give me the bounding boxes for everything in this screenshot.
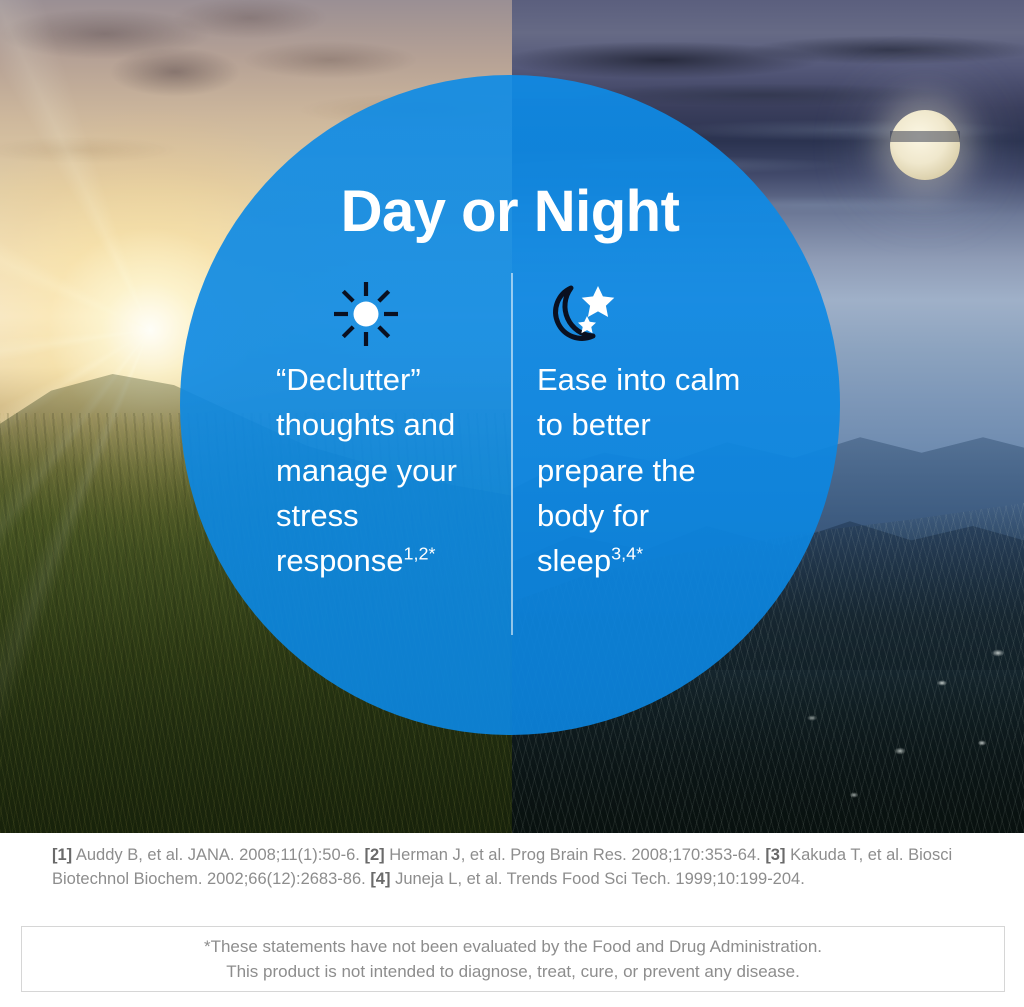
- day-column-superscript: 1,2*: [404, 544, 436, 564]
- moon-stars-icon: [525, 271, 763, 357]
- reference-item: [2] Herman J, et al. Prog Brain Res. 200…: [364, 846, 760, 864]
- night-column: Ease into calm to better prepare the bod…: [525, 271, 763, 583]
- fda-disclaimer-box: *These statements have not been evaluate…: [21, 926, 1005, 992]
- reference-marker: [2]: [364, 846, 384, 864]
- full-moon-icon: [890, 110, 960, 180]
- references-block: [1] Auddy B, et al. JANA. 2008;11(1):50-…: [52, 843, 982, 892]
- page-title: Day or Night: [180, 183, 840, 241]
- disclaimer-line-1: *These statements have not been evaluate…: [204, 934, 822, 959]
- reference-item: [1] Auddy B, et al. JANA. 2008;11(1):50-…: [52, 846, 360, 864]
- sun-icon: [260, 271, 498, 357]
- night-column-text: Ease into calm to better prepare the bod…: [525, 357, 763, 583]
- hero-photo-band: Day or Night: [0, 0, 1024, 833]
- reference-item: [4] Juneja L, et al. Trends Food Sci Tec…: [370, 870, 805, 888]
- day-column: “Declutter” thoughts and manage your str…: [260, 271, 498, 583]
- reference-text: Auddy B, et al. JANA. 2008;11(1):50-6.: [76, 846, 360, 864]
- disclaimer-line-2: This product is not intended to diagnose…: [226, 959, 800, 984]
- reference-text: Juneja L, et al. Trends Food Sci Tech. 1…: [395, 870, 805, 888]
- vertical-divider: [511, 273, 513, 635]
- blue-circle-overlay: Day or Night: [180, 75, 840, 735]
- reference-marker: [1]: [52, 846, 72, 864]
- reference-text: Herman J, et al. Prog Brain Res. 2008;17…: [389, 846, 760, 864]
- reference-marker: [4]: [370, 870, 390, 888]
- reference-marker: [3]: [765, 846, 785, 864]
- night-column-superscript: 3,4*: [611, 544, 643, 564]
- infographic-page: Day or Night: [0, 0, 1024, 1007]
- day-column-text: “Declutter” thoughts and manage your str…: [260, 357, 498, 583]
